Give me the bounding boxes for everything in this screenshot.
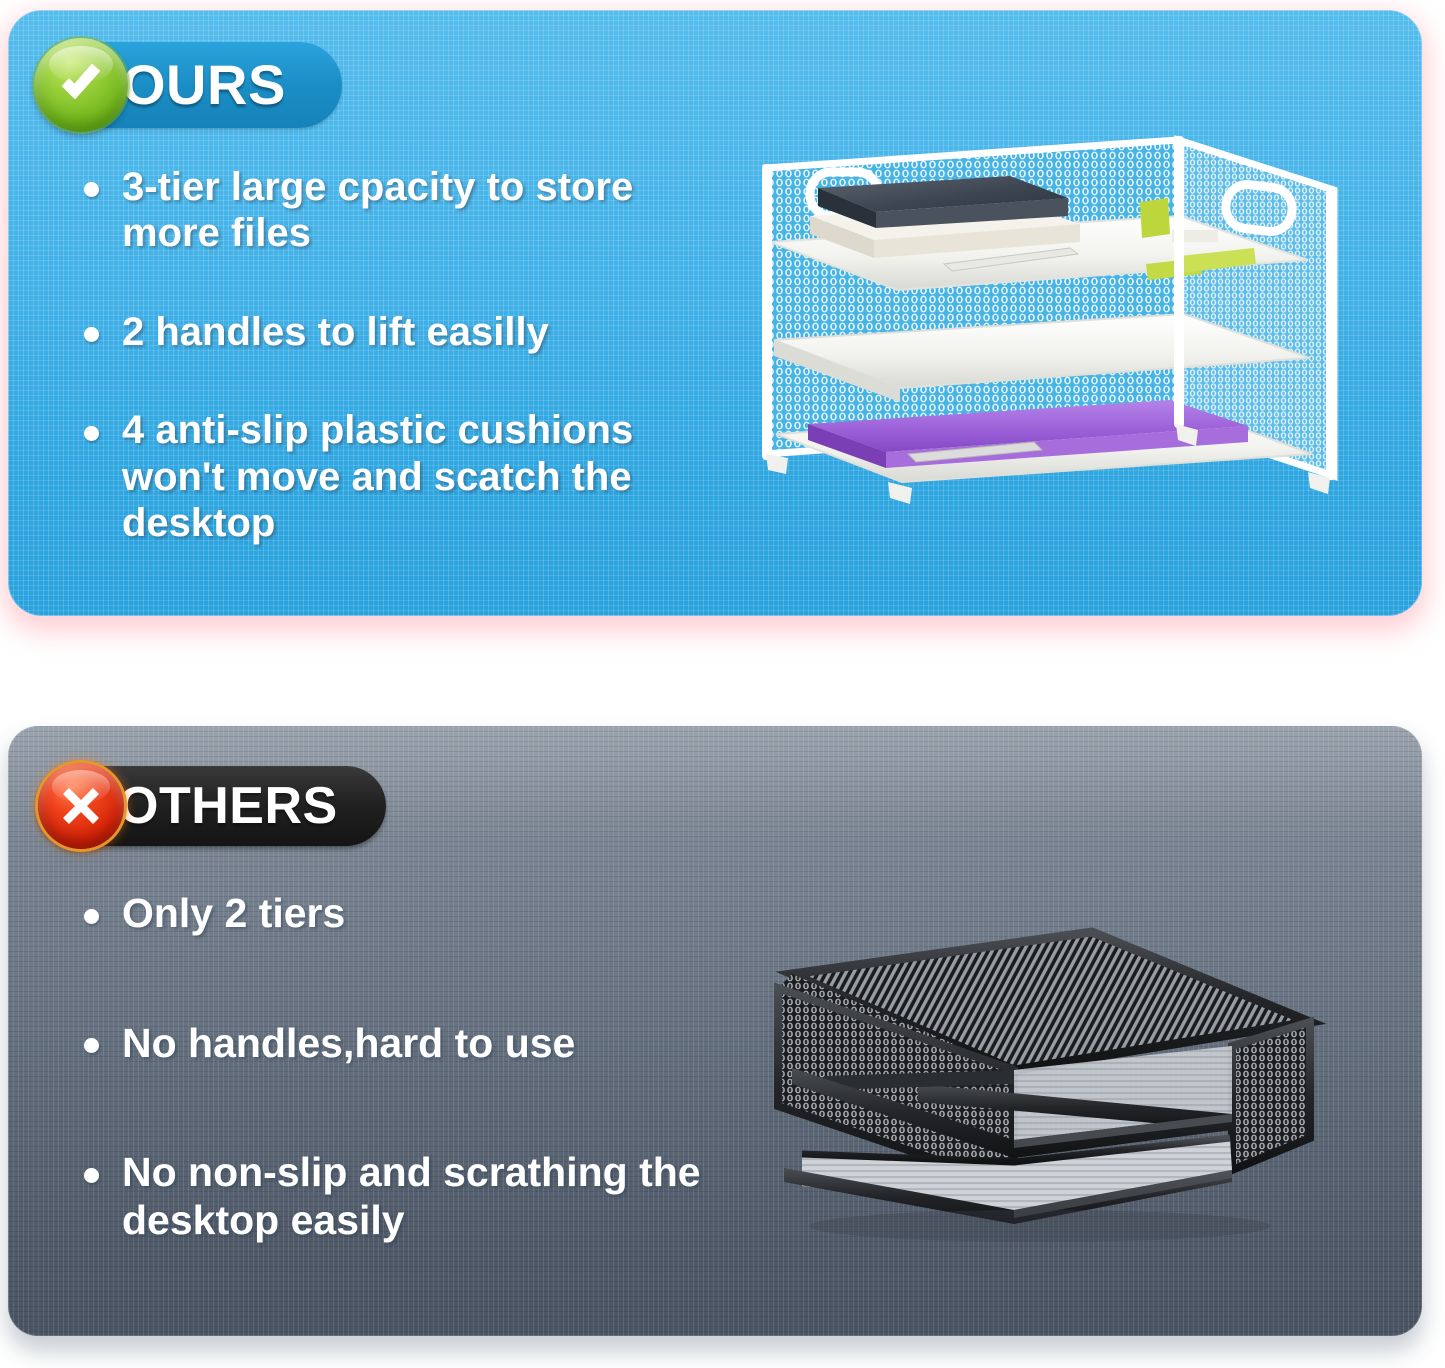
list-item: 4 anti-slip plastic cushions won't move … [76,407,706,546]
white-3-tier-organizer-image [748,124,1354,536]
others-badge-label: OTHERS [118,780,338,832]
list-item-label: 3-tier large cpacity to store more files [122,165,633,255]
list-item-label: 2 handles to lift easilly [122,310,549,354]
x-icon [38,763,124,849]
list-item: 3-tier large cpacity to store more files [76,164,706,257]
bullet-dot-icon [84,1038,99,1053]
ours-badge-label: OURS [122,57,286,113]
black-2-tier-organizer-image [762,918,1346,1248]
list-item: Only 2 tiers [76,890,736,938]
bullet-dot-icon [84,426,99,441]
list-item-label: 4 anti-slip plastic cushions won't move … [122,408,633,545]
ours-feature-list: 3-tier large cpacity to store more files… [76,164,706,546]
check-icon [34,38,128,132]
list-item-label: No handles,hard to use [122,1020,575,1066]
bullet-dot-icon [84,182,99,197]
list-item-label: No non-slip and scrathing the desktop ea… [122,1149,701,1243]
list-item: No handles,hard to use [76,1020,736,1068]
ours-badge: OURS [36,42,342,128]
bullet-dot-icon [84,909,99,924]
others-drawback-list: Only 2 tiers No handles,hard to use No n… [76,890,736,1244]
list-item: No non-slip and scrathing the desktop ea… [76,1149,736,1244]
bullet-dot-icon [84,1168,99,1183]
list-item: 2 handles to lift easilly [76,309,706,355]
list-item-label: Only 2 tiers [122,890,345,936]
others-badge: OTHERS [36,766,386,846]
bullet-dot-icon [84,327,99,342]
